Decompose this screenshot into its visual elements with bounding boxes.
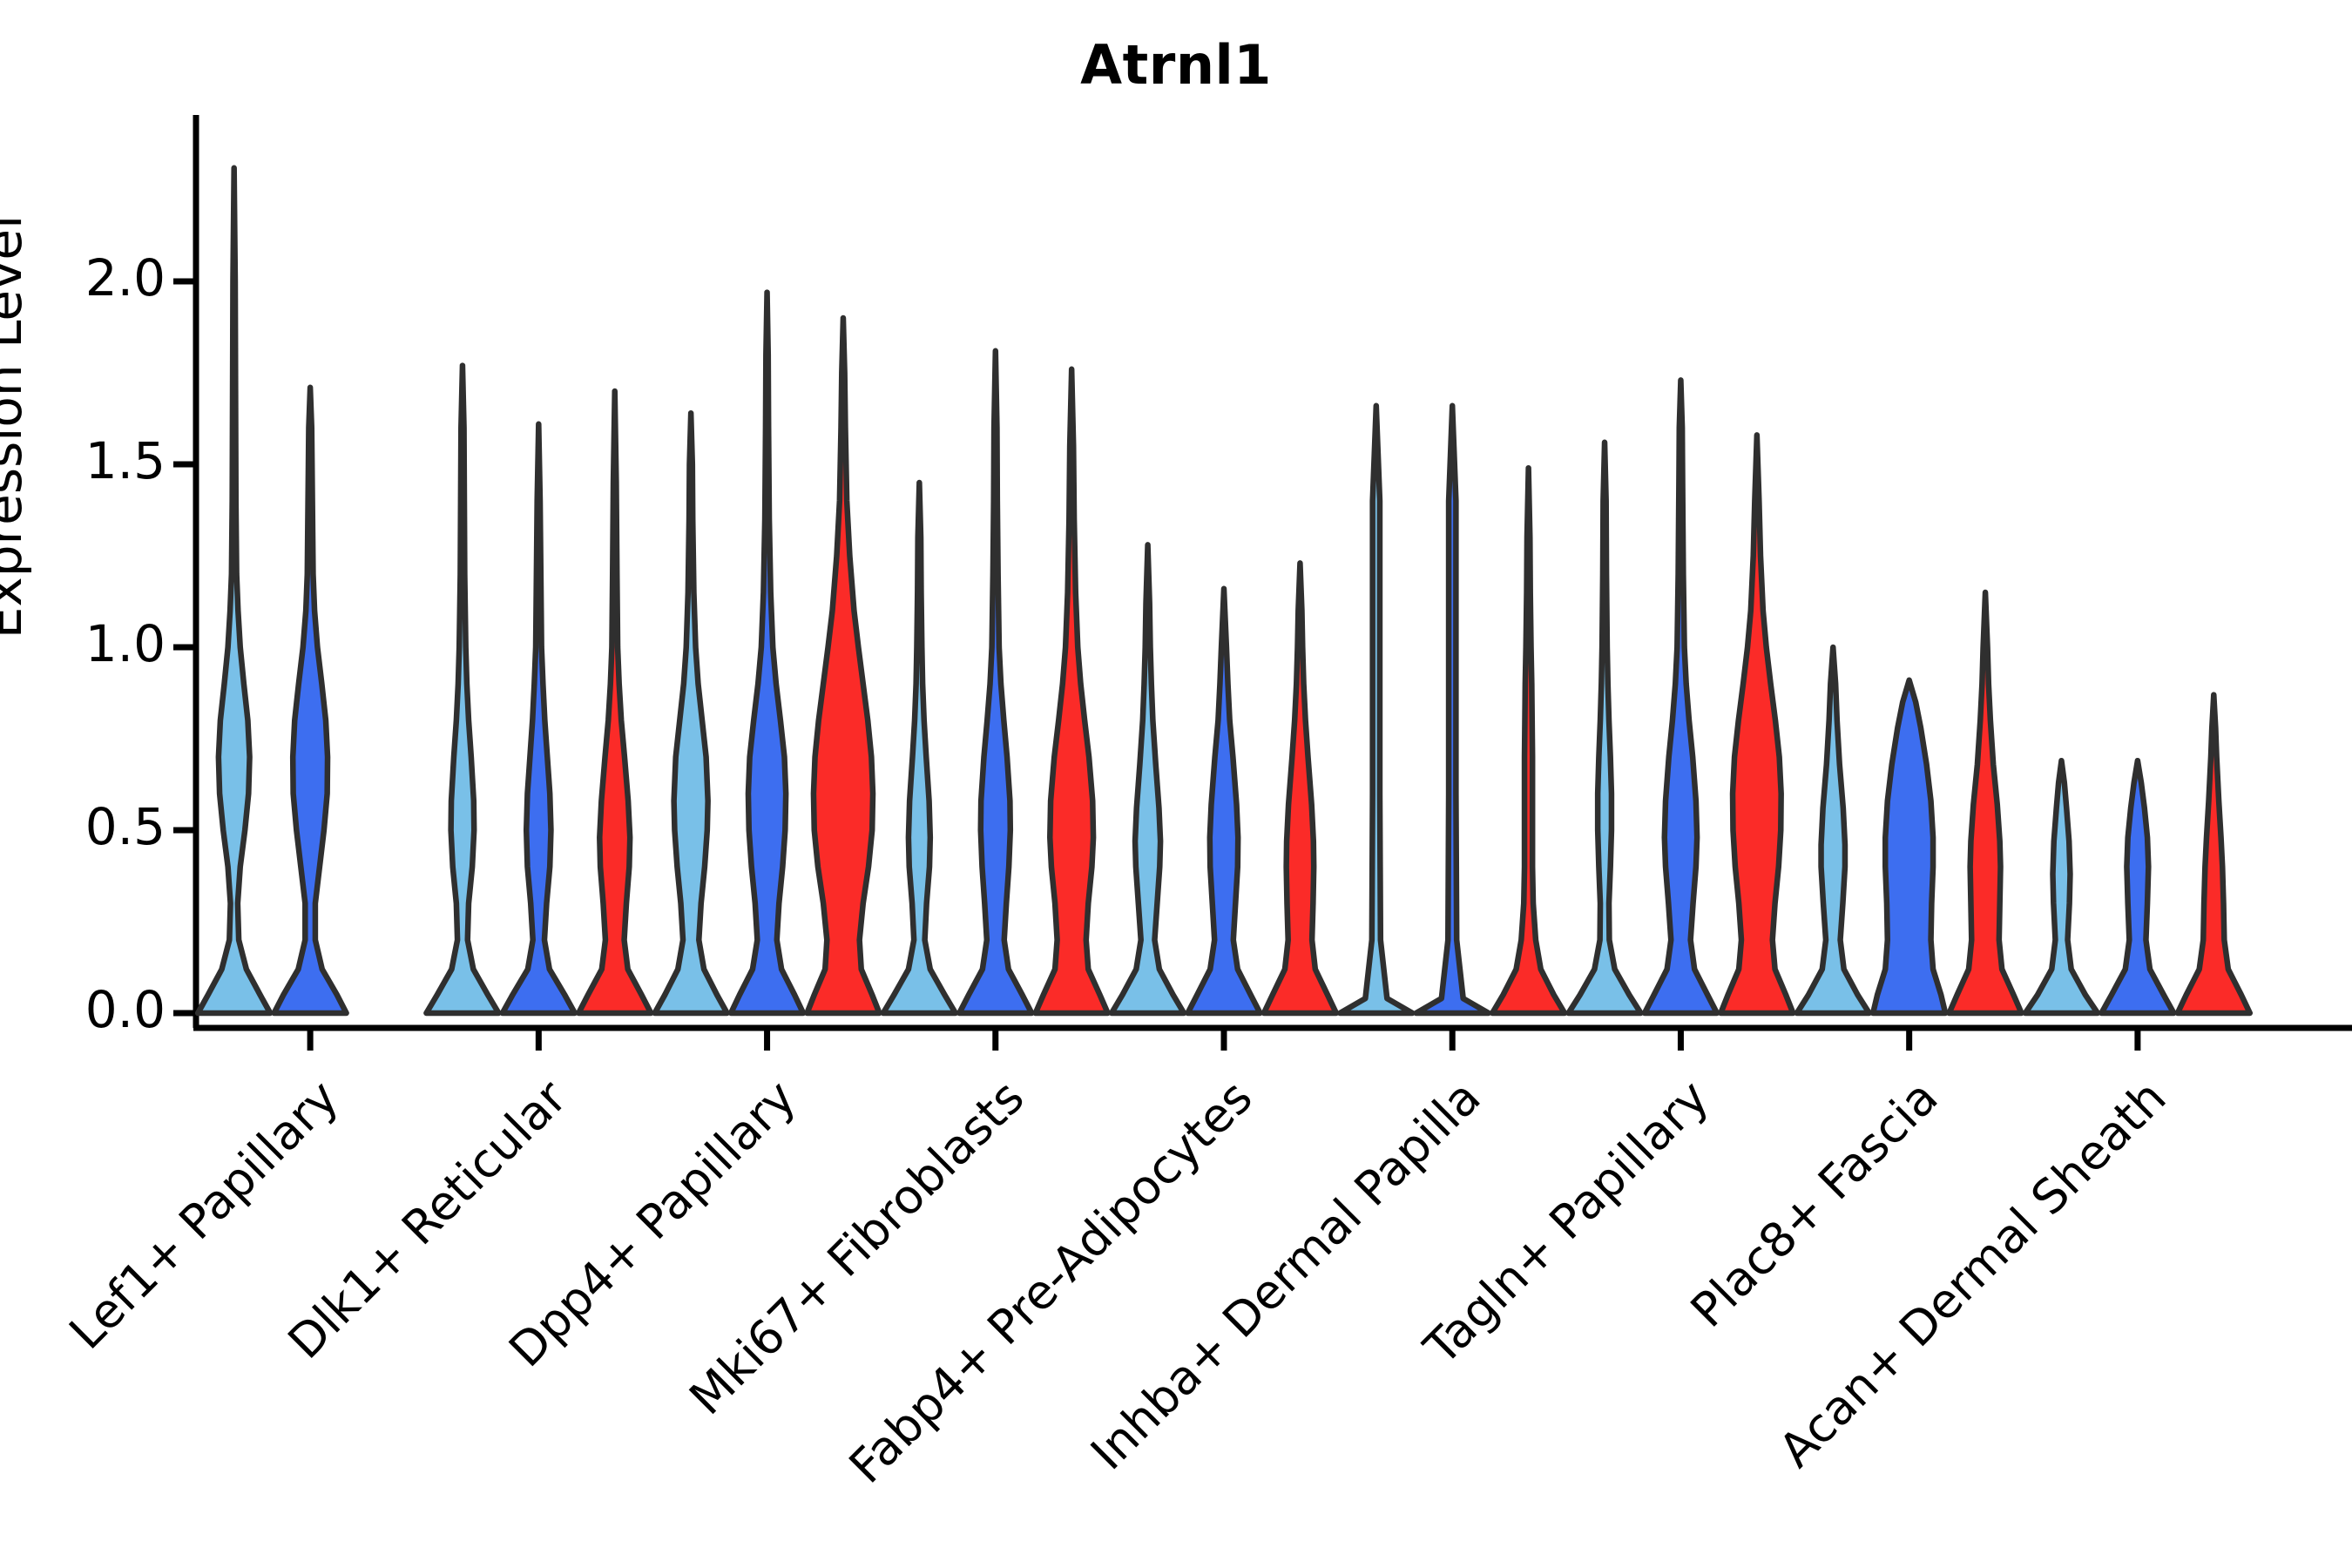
violin-blue[interactable] <box>959 351 1031 1013</box>
violin-red[interactable] <box>1492 468 1565 1013</box>
violin-light_blue[interactable] <box>655 413 727 1013</box>
violin-blue[interactable] <box>1187 589 1260 1013</box>
violin-light_blue[interactable] <box>1340 406 1412 1013</box>
violin-blue[interactable] <box>731 293 803 1013</box>
violin-red[interactable] <box>807 318 879 1013</box>
violin-blue[interactable] <box>1645 380 1717 1013</box>
violin-red[interactable] <box>1950 592 2022 1013</box>
violin-blue[interactable] <box>2101 760 2173 1013</box>
violin-light_blue[interactable] <box>1797 647 1869 1013</box>
violin-red[interactable] <box>578 391 651 1013</box>
violin-red[interactable] <box>1720 435 1793 1013</box>
violin-red[interactable] <box>2178 695 2250 1013</box>
violin-blue[interactable] <box>274 388 347 1013</box>
violin-blue[interactable] <box>1873 680 1945 1013</box>
violin-group-container <box>198 168 2250 1013</box>
violin-light_blue[interactable] <box>883 483 956 1013</box>
violin-light_blue[interactable] <box>1569 443 1641 1013</box>
violin-light_blue[interactable] <box>198 168 270 1013</box>
violin-light_blue[interactable] <box>1112 544 1184 1013</box>
violin-blue[interactable] <box>503 424 575 1013</box>
violin-red[interactable] <box>1264 563 1336 1013</box>
violin-red[interactable] <box>1036 369 1108 1013</box>
violin-light_blue[interactable] <box>426 366 498 1013</box>
violin-blue[interactable] <box>1416 406 1489 1013</box>
violin-light_blue[interactable] <box>2025 760 2098 1013</box>
violin-plot-figure: Atrnl1 Expression Level 0.00.51.01.52.0 … <box>0 0 2352 1568</box>
